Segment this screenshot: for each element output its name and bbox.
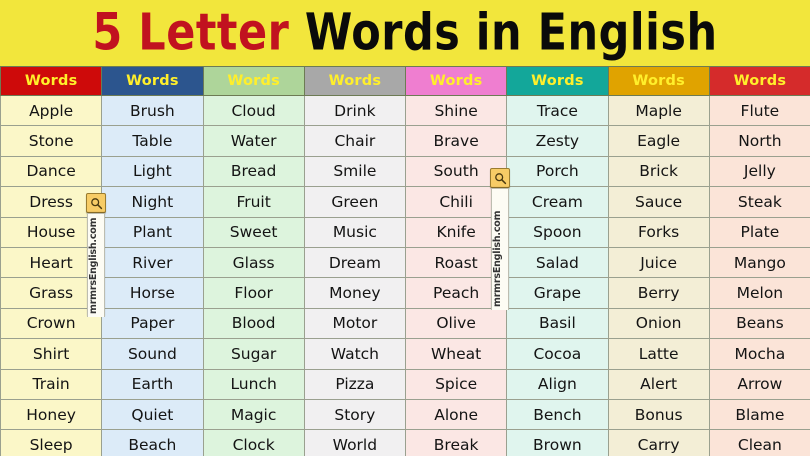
word-cell[interactable]: Brave (406, 126, 507, 156)
word-cell[interactable]: Mocha (709, 339, 810, 369)
word-cell[interactable]: Paper (102, 308, 203, 338)
word-cell[interactable]: Light (102, 156, 203, 186)
word-cell[interactable]: Blood (203, 308, 304, 338)
column-header-6[interactable]: Words (507, 67, 608, 96)
word-cell[interactable]: Glass (203, 247, 304, 277)
column-header-2[interactable]: Words (102, 67, 203, 96)
column-header-7[interactable]: Words (608, 67, 709, 96)
word-cell[interactable]: River (102, 247, 203, 277)
word-cell[interactable]: Floor (203, 278, 304, 308)
watermark-right[interactable]: mrmrsEnglish.com (490, 168, 510, 310)
word-cell[interactable]: Table (102, 126, 203, 156)
word-cell[interactable]: Basil (507, 308, 608, 338)
word-cell[interactable]: Alone (406, 399, 507, 429)
word-cell[interactable]: Magic (203, 399, 304, 429)
word-cell[interactable]: Olive (406, 308, 507, 338)
word-cell[interactable]: Align (507, 369, 608, 399)
word-cell[interactable]: Motor (304, 308, 405, 338)
word-cell[interactable]: Wheat (406, 339, 507, 369)
word-cell[interactable]: Train (1, 369, 102, 399)
magnifier-icon (86, 193, 106, 213)
word-cell[interactable]: Spoon (507, 217, 608, 247)
title-banner: 5 Letter Words in English (0, 0, 810, 66)
word-cell[interactable]: Horse (102, 278, 203, 308)
word-cell[interactable]: Trace (507, 96, 608, 126)
table-row: DanceLightBreadSmileSouthPorchBrickJelly (1, 156, 810, 186)
words-table-container: Words Words Words Words Words Words Word… (0, 66, 810, 456)
word-cell[interactable]: Melon (709, 278, 810, 308)
watermark-left[interactable]: mrmrsEnglish.com (86, 193, 106, 317)
word-cell[interactable]: Sugar (203, 339, 304, 369)
word-cell[interactable]: Plant (102, 217, 203, 247)
column-header-3[interactable]: Words (203, 67, 304, 96)
word-cell[interactable]: Plate (709, 217, 810, 247)
word-cell[interactable]: Brick (608, 156, 709, 186)
word-cell[interactable]: Alert (608, 369, 709, 399)
magnifier-icon (490, 168, 510, 188)
word-cell[interactable]: Earth (102, 369, 203, 399)
word-cell[interactable]: Break (406, 430, 507, 456)
table-row: ShirtSoundSugarWatchWheatCocoaLatteMocha (1, 339, 810, 369)
word-cell[interactable]: Arrow (709, 369, 810, 399)
word-cell[interactable]: Steak (709, 187, 810, 217)
word-cell[interactable]: Brown (507, 430, 608, 456)
column-header-5[interactable]: Words (406, 67, 507, 96)
table-row: CrownPaperBloodMotorOliveBasilOnionBeans (1, 308, 810, 338)
word-cell[interactable]: Sound (102, 339, 203, 369)
word-cell[interactable]: World (304, 430, 405, 456)
word-cell[interactable]: Carry (608, 430, 709, 456)
table-row: HoneyQuietMagicStoryAloneBenchBonusBlame (1, 399, 810, 429)
word-cell[interactable]: Bonus (608, 399, 709, 429)
column-header-8[interactable]: Words (709, 67, 810, 96)
words-table: Words Words Words Words Words Words Word… (0, 66, 810, 456)
word-cell[interactable]: Berry (608, 278, 709, 308)
word-cell[interactable]: Watch (304, 339, 405, 369)
table-row: SleepBeachClockWorldBreakBrownCarryClean (1, 430, 810, 456)
table-row: AppleBrushCloudDrinkShineTraceMapleFlute (1, 96, 810, 126)
word-cell[interactable]: Forks (608, 217, 709, 247)
word-cell[interactable]: Stone (1, 126, 102, 156)
word-cell[interactable]: Shine (406, 96, 507, 126)
word-cell[interactable]: Chair (304, 126, 405, 156)
word-cell[interactable]: Apple (1, 96, 102, 126)
word-cell[interactable]: Onion (608, 308, 709, 338)
word-cell[interactable]: Beach (102, 430, 203, 456)
word-cell[interactable]: Fruit (203, 187, 304, 217)
word-cell[interactable]: Salad (507, 247, 608, 277)
word-cell[interactable]: Maple (608, 96, 709, 126)
word-cell[interactable]: Cloud (203, 96, 304, 126)
word-cell[interactable]: Beans (709, 308, 810, 338)
word-cell[interactable]: Shirt (1, 339, 102, 369)
word-cell[interactable]: Flute (709, 96, 810, 126)
word-cell[interactable]: Money (304, 278, 405, 308)
table-row: TrainEarthLunchPizzaSpiceAlignAlertArrow (1, 369, 810, 399)
word-cell[interactable]: Honey (1, 399, 102, 429)
poster-root: 5 Letter Words in English Words Words Wo… (0, 0, 810, 456)
word-cell[interactable]: Drink (304, 96, 405, 126)
page-title: 5 Letter Words in English (92, 8, 717, 59)
table-row: HousePlantSweetMusicKnifeSpoonForksPlate (1, 217, 810, 247)
word-cell[interactable]: Cream (507, 187, 608, 217)
watermark-left-label: mrmrsEnglish.com (87, 213, 105, 317)
word-cell[interactable]: Porch (507, 156, 608, 186)
word-cell[interactable]: Sleep (1, 430, 102, 456)
word-cell[interactable]: Sauce (608, 187, 709, 217)
table-row: DressNightFruitGreenChiliCreamSauceSteak (1, 187, 810, 217)
word-cell[interactable]: Water (203, 126, 304, 156)
table-row: StoneTableWaterChairBraveZestyEagleNorth (1, 126, 810, 156)
word-cell[interactable]: Jelly (709, 156, 810, 186)
word-cell[interactable]: Quiet (102, 399, 203, 429)
word-cell[interactable]: Zesty (507, 126, 608, 156)
word-cell[interactable]: Music (304, 217, 405, 247)
table-row: HeartRiverGlassDreamRoastSaladJuiceMango (1, 247, 810, 277)
page-title-red-part: 5 Letter (92, 3, 289, 62)
page-title-black-part: Words in English (289, 3, 717, 62)
table-row: GrassHorseFloorMoneyPeachGrapeBerryMelon (1, 278, 810, 308)
word-cell[interactable]: Cocoa (507, 339, 608, 369)
word-cell[interactable]: Bench (507, 399, 608, 429)
header-row: Words Words Words Words Words Words Word… (1, 67, 810, 96)
word-cell[interactable]: Spice (406, 369, 507, 399)
word-cell[interactable]: Eagle (608, 126, 709, 156)
watermark-right-label: mrmrsEnglish.com (491, 188, 509, 310)
word-cell[interactable]: Clock (203, 430, 304, 456)
word-cell[interactable]: Brush (102, 96, 203, 126)
table-header: Words Words Words Words Words Words Word… (1, 67, 810, 96)
word-cell[interactable]: Night (102, 187, 203, 217)
column-header-4[interactable]: Words (304, 67, 405, 96)
word-cell[interactable]: Dance (1, 156, 102, 186)
word-cell[interactable]: Grape (507, 278, 608, 308)
word-cell[interactable]: Dream (304, 247, 405, 277)
word-cell[interactable]: Bread (203, 156, 304, 186)
word-cell[interactable]: Lunch (203, 369, 304, 399)
word-cell[interactable]: Mango (709, 247, 810, 277)
word-cell[interactable]: Story (304, 399, 405, 429)
word-cell[interactable]: North (709, 126, 810, 156)
word-cell[interactable]: Smile (304, 156, 405, 186)
word-cell[interactable]: Latte (608, 339, 709, 369)
word-cell[interactable]: Clean (709, 430, 810, 456)
column-header-1[interactable]: Words (1, 67, 102, 96)
word-cell[interactable]: Blame (709, 399, 810, 429)
word-cell[interactable]: Pizza (304, 369, 405, 399)
word-cell[interactable]: Sweet (203, 217, 304, 247)
word-cell[interactable]: Juice (608, 247, 709, 277)
word-cell[interactable]: Green (304, 187, 405, 217)
table-body: AppleBrushCloudDrinkShineTraceMapleFlute… (1, 96, 810, 456)
